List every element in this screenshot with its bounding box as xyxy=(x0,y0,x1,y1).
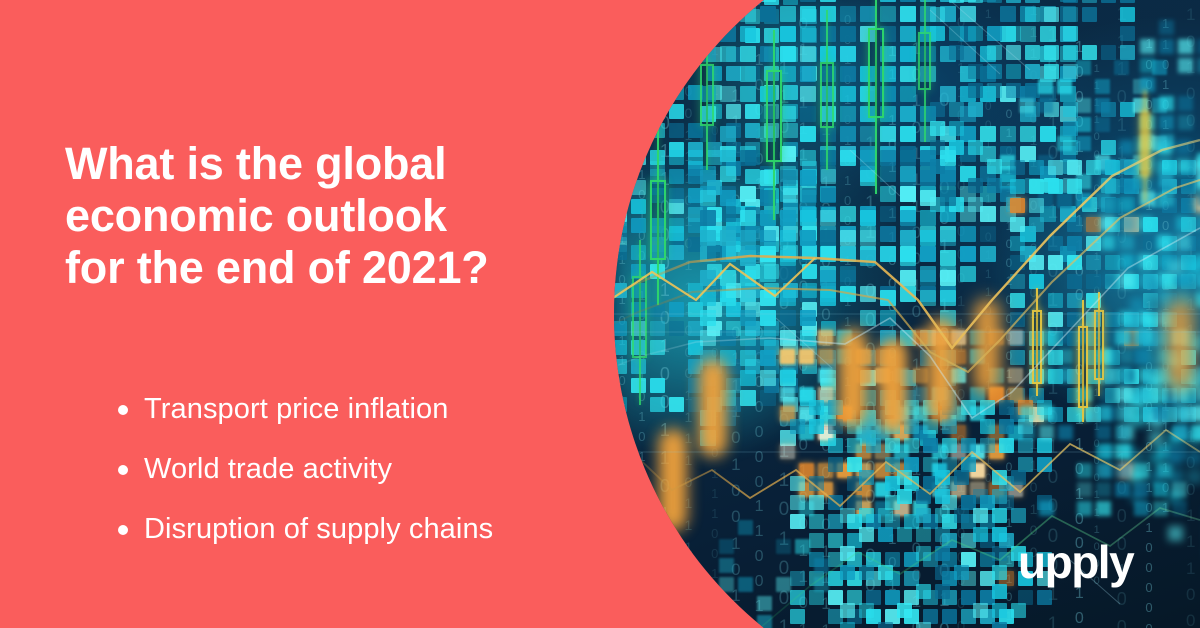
pixel-block xyxy=(650,9,665,24)
bullet-dot-icon xyxy=(118,465,128,475)
list-item: Transport price inflation xyxy=(118,392,638,426)
banner: 0 0 1 1 0 1 1 1 0 1 0 1 1 1 0 1 0 1 1 0 … xyxy=(0,0,1200,628)
pixel-block xyxy=(631,9,646,24)
pixel-block xyxy=(612,28,627,43)
bullet-dot-icon xyxy=(118,405,128,415)
pixel-block xyxy=(612,9,627,24)
pixel-block xyxy=(726,0,741,5)
pixel-block xyxy=(650,85,665,100)
pixel-block xyxy=(612,161,627,176)
pixel-block xyxy=(700,6,716,22)
upply-logo: upply xyxy=(1018,539,1133,585)
pixel-block xyxy=(745,0,760,5)
pixel-block xyxy=(612,123,627,138)
pixel-block xyxy=(631,85,646,100)
pixel-block xyxy=(612,180,627,195)
pixel-block xyxy=(612,207,627,222)
pixel-block xyxy=(612,47,627,62)
pixel-block xyxy=(631,142,646,157)
page-title: What is the global economic outlook for … xyxy=(65,138,585,294)
pixel-block xyxy=(707,9,722,24)
pixel-block xyxy=(726,9,741,24)
pixel-block xyxy=(612,188,627,203)
pixel-block xyxy=(612,142,627,157)
pixel-block xyxy=(688,0,703,5)
list-item-label: Disruption of supply chains xyxy=(144,513,493,545)
pixel-block xyxy=(650,104,665,119)
pixel-block xyxy=(650,0,665,5)
pixel-block xyxy=(669,0,684,5)
pixel-block xyxy=(612,85,627,100)
pixel-block xyxy=(700,596,715,611)
pixel-block xyxy=(612,104,627,119)
pixel-block xyxy=(700,0,716,2)
pixel-block xyxy=(650,47,665,62)
list-item: Disruption of supply chains xyxy=(118,512,638,546)
bullet-dot-icon xyxy=(118,525,128,535)
list-item-label: World trade activity xyxy=(144,453,392,485)
pixel-block xyxy=(669,28,684,43)
pixel-block xyxy=(669,9,684,24)
pixel-block xyxy=(631,0,646,5)
pixel-block xyxy=(612,150,627,165)
pixel-block xyxy=(631,66,646,81)
pixel-block xyxy=(700,26,716,42)
topic-bullet-list: Transport price inflationWorld trade act… xyxy=(118,392,638,546)
list-item: World trade activity xyxy=(118,452,638,486)
pixel-block xyxy=(631,28,646,43)
headline-line-3: for the end of 2021? xyxy=(65,242,585,294)
pixel-block xyxy=(720,6,736,22)
headline-line-2: economic outlook xyxy=(65,190,585,242)
pixel-block xyxy=(720,0,736,2)
pixel-block xyxy=(700,577,715,592)
headline-line-1: What is the global xyxy=(65,138,585,190)
pixel-block xyxy=(612,66,627,81)
pixel-block xyxy=(688,28,703,43)
pixel-block xyxy=(688,9,703,24)
pixel-block xyxy=(612,199,627,214)
pixel-block xyxy=(707,0,722,5)
pixel-block xyxy=(669,47,684,62)
line-chart-overlay xyxy=(600,0,1200,628)
pixel-block xyxy=(631,47,646,62)
pixel-block xyxy=(719,615,734,628)
pixel-block xyxy=(700,615,715,628)
pixel-block xyxy=(631,123,646,138)
pixel-block xyxy=(740,0,756,2)
pixel-block xyxy=(631,104,646,119)
pixel-block xyxy=(612,169,627,184)
pixel-block xyxy=(688,47,703,62)
pixel-block xyxy=(669,66,684,81)
pixel-block xyxy=(650,66,665,81)
pixel-block xyxy=(612,0,627,5)
pixel-block xyxy=(650,28,665,43)
list-item-label: Transport price inflation xyxy=(144,393,448,425)
pixel-block xyxy=(707,28,722,43)
